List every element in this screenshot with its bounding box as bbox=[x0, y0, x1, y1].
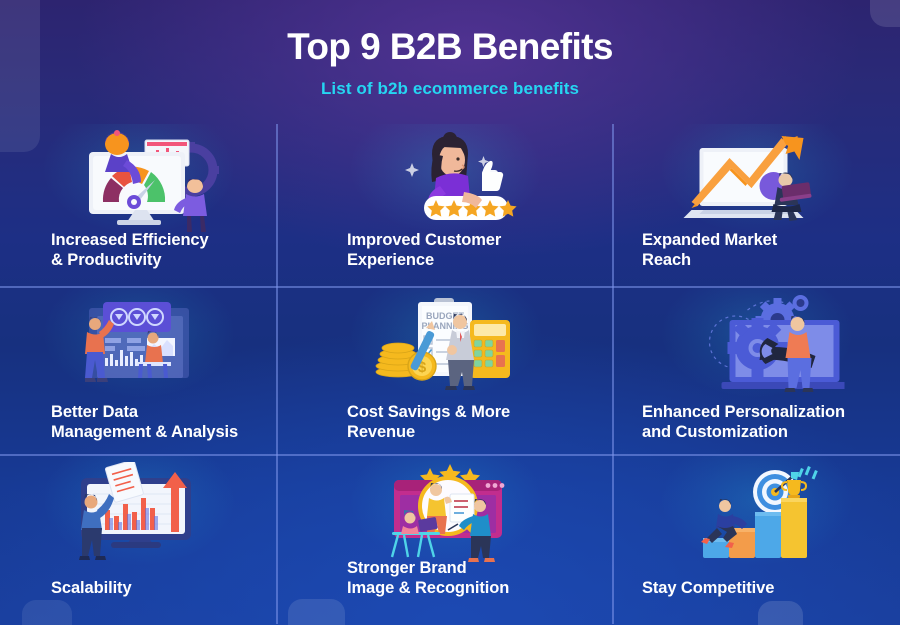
benefit-cell-8[interactable]: Stronger BrandImage & Recognition bbox=[278, 456, 614, 624]
five-star-review-icon bbox=[366, 130, 526, 234]
speedometer-dashboard-icon bbox=[59, 130, 219, 234]
benefit-label-9: Stay Competitive bbox=[614, 578, 900, 624]
benefit-cell-9[interactable]: Stay Competitive bbox=[614, 456, 900, 624]
benefit-label-7: Scalability bbox=[0, 578, 278, 624]
target-trophy-steps-icon bbox=[677, 462, 837, 566]
benefit-cell-3[interactable]: Expanded MarketReach bbox=[614, 124, 900, 288]
infographic-header: Top 9 B2B Benefits List of b2b ecommerce… bbox=[0, 0, 900, 99]
benefit-cell-7[interactable]: Scalability bbox=[0, 456, 278, 624]
benefit-label-6: Enhanced Personalizationand Customizatio… bbox=[614, 402, 900, 456]
benefit-label-5: Cost Savings & MoreRevenue bbox=[278, 402, 614, 456]
benefit-cell-6[interactable]: Enhanced Personalizationand Customizatio… bbox=[614, 288, 900, 456]
brand-magnifier-stars-icon bbox=[366, 462, 526, 566]
growth-arrow-laptop-icon bbox=[670, 130, 845, 234]
benefit-label-4: Better DataManagement & Analysis bbox=[0, 402, 278, 456]
benefit-label-2: Improved CustomerExperience bbox=[278, 230, 614, 288]
benefits-grid: Increased Efficiency& Productivity bbox=[0, 124, 900, 624]
page-subtitle: List of b2b ecommerce benefits bbox=[0, 79, 900, 99]
analytics-dashboard-icon bbox=[59, 294, 219, 398]
budget-planning-coins-icon: BUDGET PLANNING bbox=[366, 294, 526, 398]
benefit-cell-1[interactable]: Increased Efficiency& Productivity bbox=[0, 124, 278, 288]
page-title: Top 9 B2B Benefits bbox=[0, 28, 900, 67]
bar-chart-growth-monitor-icon bbox=[59, 462, 219, 566]
gears-wrench-icon bbox=[670, 294, 845, 398]
benefit-label-3: Expanded MarketReach bbox=[614, 230, 900, 288]
benefit-label-8: Stronger BrandImage & Recognition bbox=[278, 558, 614, 624]
benefit-label-1: Increased Efficiency& Productivity bbox=[0, 230, 278, 288]
infographic-canvas: Top 9 B2B Benefits List of b2b ecommerce… bbox=[0, 0, 900, 625]
benefit-cell-4[interactable]: Better DataManagement & Analysis bbox=[0, 288, 278, 456]
benefit-cell-5[interactable]: BUDGET PLANNING bbox=[278, 288, 614, 456]
benefit-cell-2[interactable]: Improved CustomerExperience bbox=[278, 124, 614, 288]
